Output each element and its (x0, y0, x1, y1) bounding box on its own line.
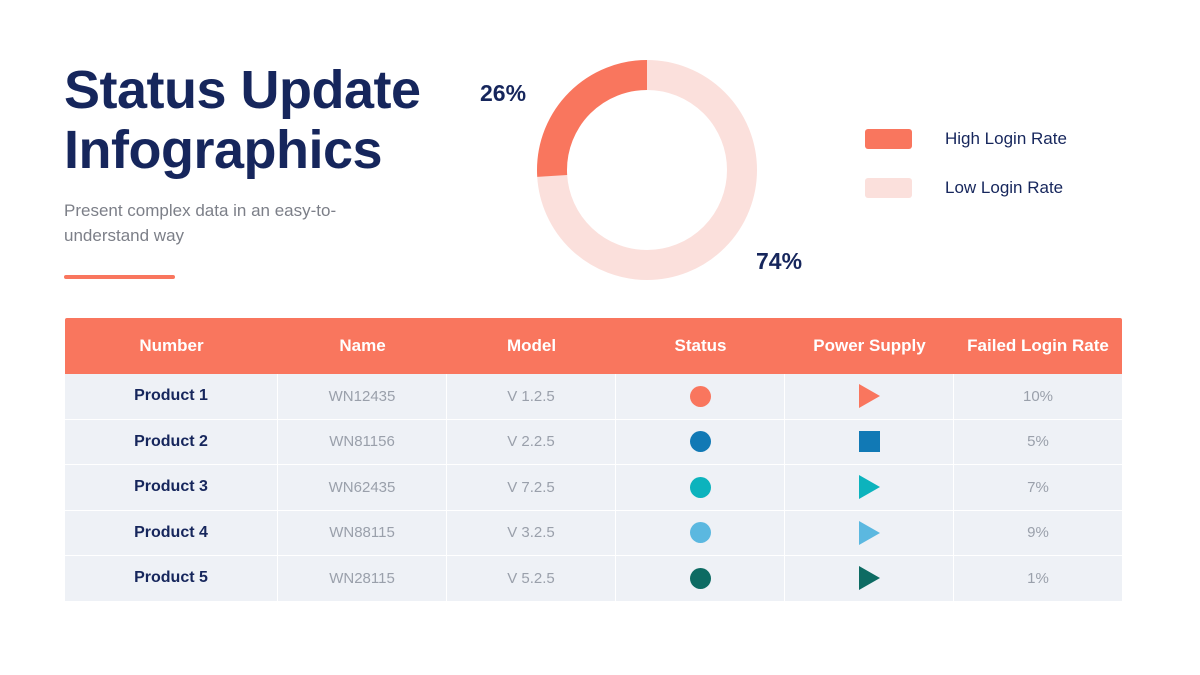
legend-swatch-low-login-rate (865, 178, 912, 198)
page-title-line-1: Status Update (64, 60, 464, 120)
legend-swatch-high-login-rate (865, 129, 912, 149)
cell-power-supply (785, 465, 954, 510)
cell-failed-login-rate: 9% (954, 511, 1122, 556)
donut-label-low-login-rate: 74% (756, 248, 802, 275)
table-row: Product 5 WN28115 V 5.2.5 1% (65, 556, 1122, 601)
legend-item-low-login-rate: Low Login Rate (865, 173, 1067, 203)
table-row: Product 2 WN81156 V 2.2.5 5% (65, 420, 1122, 466)
status-circle-icon (690, 477, 711, 498)
donut-chart-svg (537, 60, 757, 280)
legend-item-high-login-rate: High Login Rate (865, 124, 1067, 154)
cell-failed-login-rate: 10% (954, 374, 1122, 419)
cell-failed-login-rate: 1% (954, 556, 1122, 601)
status-circle-icon (690, 386, 711, 407)
play-triangle-icon (859, 384, 880, 408)
cell-number: Product 1 (65, 374, 278, 419)
cell-number: Product 3 (65, 465, 278, 510)
table-header-row: Number Name Model Status Power Supply Fa… (65, 318, 1122, 374)
donut-label-high-login-rate: 26% (480, 80, 526, 107)
cell-power-supply (785, 556, 954, 601)
table-row: Product 3 WN62435 V 7.2.5 7% (65, 465, 1122, 511)
cell-status (616, 420, 785, 465)
cell-number: Product 2 (65, 420, 278, 465)
cell-number: Product 5 (65, 556, 278, 601)
column-header-name: Name (278, 318, 447, 374)
column-header-failed-login-rate: Failed Login Rate (954, 318, 1122, 374)
column-header-status: Status (616, 318, 785, 374)
legend-label-high-login-rate: High Login Rate (945, 129, 1067, 149)
play-triangle-icon (859, 521, 880, 545)
cell-number: Product 4 (65, 511, 278, 556)
donut-chart (537, 60, 757, 280)
cell-model: V 5.2.5 (447, 556, 616, 601)
table-body: Product 1 WN12435 V 1.2.5 10% Product 2 … (65, 374, 1122, 601)
status-circle-icon (690, 431, 711, 452)
products-table: Number Name Model Status Power Supply Fa… (65, 318, 1122, 601)
cell-name: WN88115 (278, 511, 447, 556)
cell-model: V 2.2.5 (447, 420, 616, 465)
accent-underline (64, 275, 175, 279)
stop-square-icon (859, 431, 880, 452)
cell-power-supply (785, 511, 954, 556)
page-subtitle: Present complex data in an easy-to-under… (64, 199, 364, 248)
cell-name: WN62435 (278, 465, 447, 510)
cell-name: WN12435 (278, 374, 447, 419)
table-row: Product 4 WN88115 V 3.2.5 9% (65, 511, 1122, 557)
table-row: Product 1 WN12435 V 1.2.5 10% (65, 374, 1122, 420)
title-block: Status Update Infographics Present compl… (64, 60, 464, 279)
cell-model: V 7.2.5 (447, 465, 616, 510)
cell-status (616, 374, 785, 419)
cell-failed-login-rate: 5% (954, 420, 1122, 465)
cell-power-supply (785, 420, 954, 465)
cell-model: V 3.2.5 (447, 511, 616, 556)
column-header-number: Number (65, 318, 278, 374)
cell-status (616, 556, 785, 601)
status-circle-icon (690, 568, 711, 589)
cell-failed-login-rate: 7% (954, 465, 1122, 510)
cell-name: WN81156 (278, 420, 447, 465)
column-header-power-supply: Power Supply (785, 318, 954, 374)
play-triangle-icon (859, 566, 880, 590)
cell-status (616, 465, 785, 510)
cell-power-supply (785, 374, 954, 419)
legend-label-low-login-rate: Low Login Rate (945, 178, 1063, 198)
cell-name: WN28115 (278, 556, 447, 601)
chart-legend: High Login Rate Low Login Rate (865, 124, 1067, 222)
cell-status (616, 511, 785, 556)
status-circle-icon (690, 522, 711, 543)
play-triangle-icon (859, 475, 880, 499)
cell-model: V 1.2.5 (447, 374, 616, 419)
page-title-line-2: Infographics (64, 120, 464, 180)
column-header-model: Model (447, 318, 616, 374)
